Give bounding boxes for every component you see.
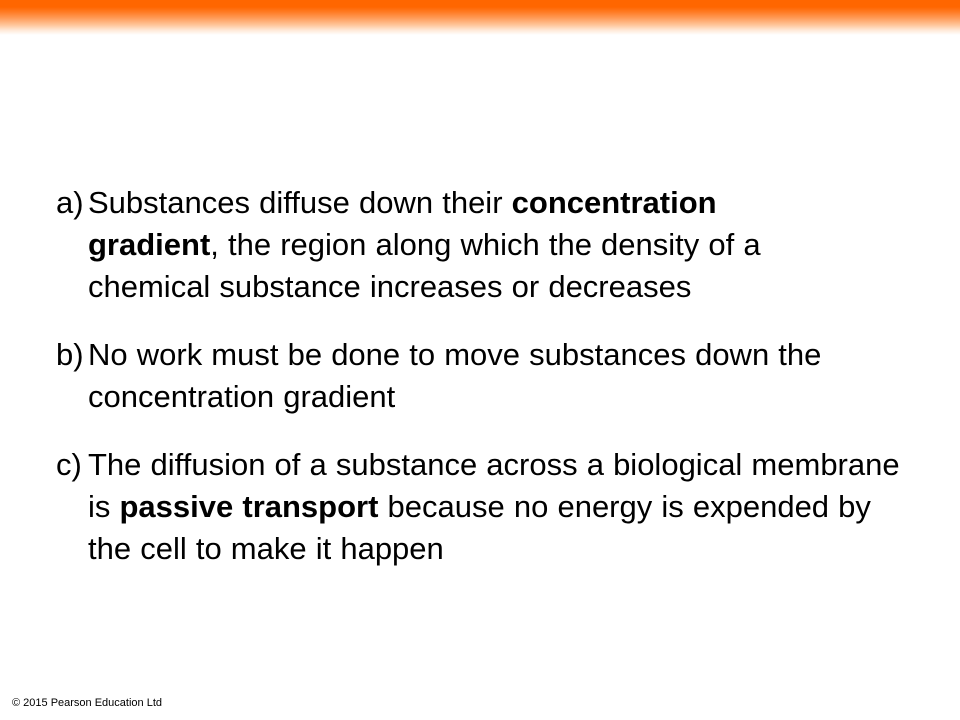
orange-solid-bar [0, 0, 960, 7]
slide-canvas: a) Substances diffuse down their concent… [0, 0, 960, 720]
list-item-text: The diffusion of a substance across a bi… [88, 444, 910, 570]
list-item-marker: b) [56, 334, 88, 376]
list-item-marker: a) [56, 182, 88, 224]
list-item: b) No work must be done to move substanc… [56, 334, 928, 418]
list-item-text: Substances diffuse down their concentrat… [88, 182, 804, 308]
list-item-marker: c) [56, 444, 88, 486]
list-item-text: No work must be done to move substances … [88, 334, 918, 418]
text-run: Substances diffuse down their [88, 185, 512, 220]
list-item: c) The diffusion of a substance across a… [56, 444, 928, 570]
bullet-list: a) Substances diffuse down their concent… [56, 182, 928, 570]
orange-gradient-band [0, 0, 960, 36]
list-item: a) Substances diffuse down their concent… [56, 182, 928, 308]
emphasis-term: passive transport [120, 489, 379, 524]
copyright-footer: © 2015 Pearson Education Ltd [12, 697, 162, 710]
text-run: No work must be done to move substances … [88, 337, 821, 414]
